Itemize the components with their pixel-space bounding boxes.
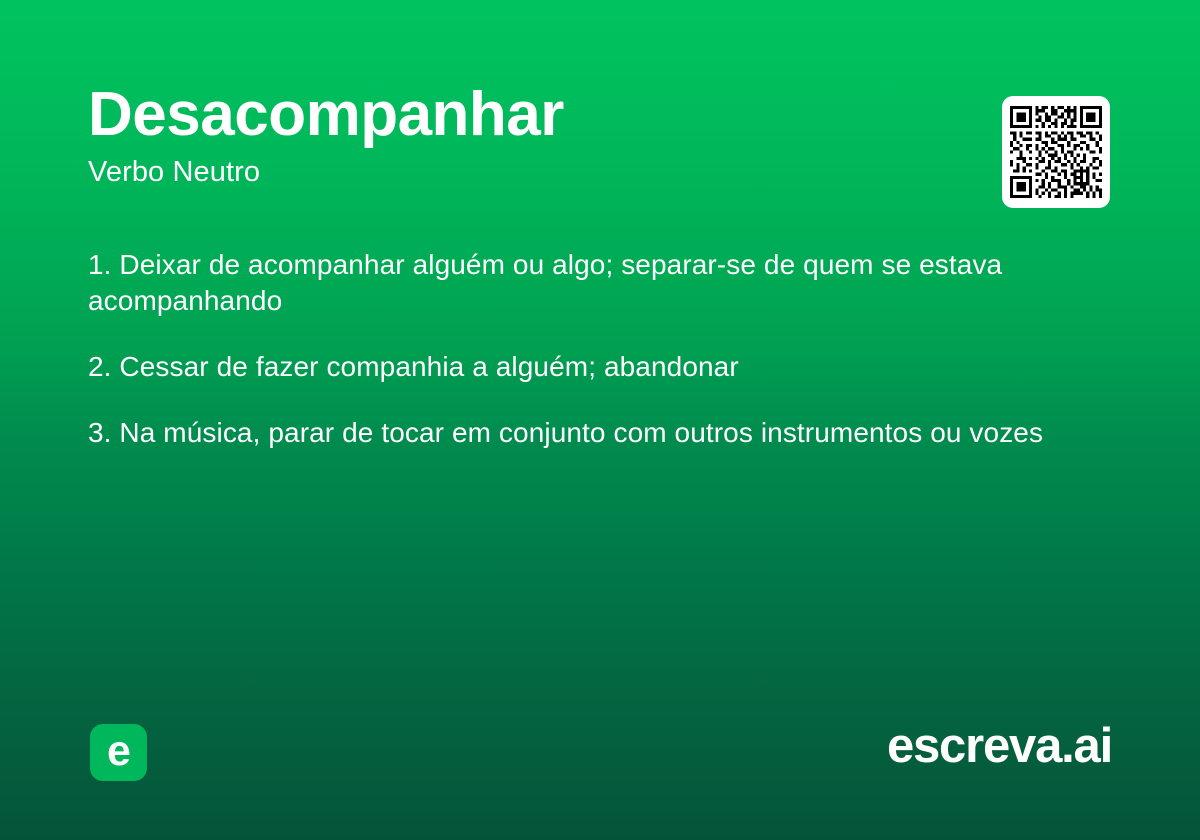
page-title: Desacompanhar [88,82,968,147]
qr-code-icon [1010,103,1102,201]
definition-list: 1. Deixar de acompanhar alguém ou algo; … [88,247,1108,451]
escreva-logo-icon[interactable]: e [90,724,147,781]
definition-item: 1. Deixar de acompanhar alguém ou algo; … [88,247,1108,319]
qr-code-card[interactable] [1002,96,1110,208]
card-header: Desacompanhar Verbo Neutro [88,82,968,189]
definition-item: 3. Na música, parar de tocar em conjunto… [88,415,1108,451]
definition-item: 2. Cessar de fazer companhia a alguém; a… [88,349,1108,385]
word-definition-card: Desacompanhar Verbo Neutro [0,0,1200,840]
logo-letter: e [107,730,130,773]
brand-wordmark: escreva.ai [887,720,1112,774]
word-class-label: Verbo Neutro [88,157,968,189]
